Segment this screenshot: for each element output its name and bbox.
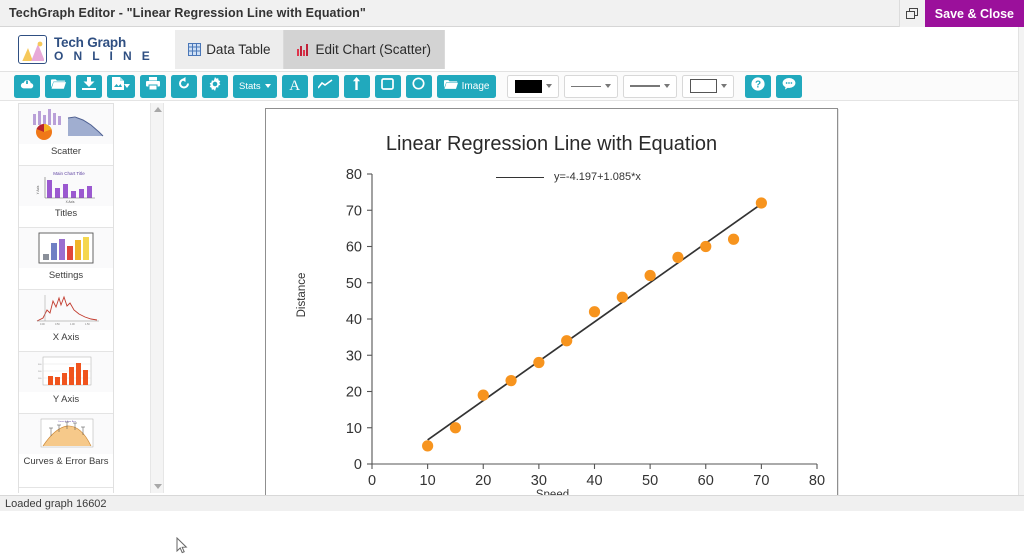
sidebar-item-scatter-label: Scatter — [19, 144, 113, 157]
main-tabs: Data Table Edit Chart (Scatter) — [175, 30, 445, 69]
window-title-bar: TechGraph Editor - "Linear Regression Li… — [0, 0, 1024, 27]
sidebar-item-y-axis[interactable]: 300200100 Y Axis — [19, 352, 113, 414]
bar-chart-icon — [297, 43, 310, 56]
chart-canvas[interactable]: Linear Regression Line with Equation y=-… — [265, 108, 838, 502]
shape-preview — [690, 79, 717, 93]
feedback-chat-icon — [782, 77, 796, 95]
shape-style-select[interactable] — [682, 75, 734, 98]
print-icon — [146, 77, 160, 95]
line-tool-button[interactable] — [313, 75, 339, 98]
sidebar-item-x-axis-label: X Axis — [19, 330, 113, 343]
svg-text:1.00: 1.00 — [70, 323, 75, 326]
line-style-select[interactable] — [564, 75, 618, 98]
svg-text:10: 10 — [346, 421, 362, 437]
arrow-tool-icon — [352, 77, 361, 95]
status-message: Loaded graph 16602 — [5, 498, 107, 510]
undo-icon — [177, 77, 191, 95]
upload-cloud-button[interactable] — [14, 75, 40, 98]
svg-text:50: 50 — [346, 276, 362, 292]
open-folder-icon — [51, 77, 66, 95]
mouse-cursor — [176, 537, 188, 554]
undo-button[interactable] — [171, 75, 197, 98]
svg-text:20: 20 — [346, 385, 362, 401]
app-logo: Tech Graph O N L I N E — [0, 35, 153, 64]
titles-thumbnail: Main Chart Title Y Axis X Axis — [19, 166, 113, 206]
chevron-down-icon — [721, 84, 727, 88]
svg-text:10: 10 — [420, 473, 436, 489]
export-image-button[interactable] — [107, 75, 135, 98]
line-width-select[interactable] — [623, 75, 677, 98]
logo-chart-icon — [18, 35, 47, 64]
feedback-chat-button[interactable] — [776, 75, 802, 98]
svg-text:X Axis: X Axis — [66, 200, 75, 204]
settings-gear-button[interactable] — [202, 75, 228, 98]
logo-text-line1: Tech Graph — [54, 36, 153, 50]
sidebar-scrollbar[interactable] — [150, 103, 164, 493]
logo-text-line2: O N L I N E — [54, 50, 153, 62]
tab-data-table-label: Data Table — [206, 42, 270, 57]
svg-text:Y Axis: Y Axis — [36, 185, 40, 194]
svg-text:0: 0 — [354, 457, 362, 473]
table-icon — [188, 43, 201, 56]
upload-cloud-icon — [20, 77, 34, 95]
svg-text:60: 60 — [346, 240, 362, 256]
print-button[interactable] — [140, 75, 166, 98]
sidebar-item-titles[interactable]: Main Chart Title Y Axis X Axis Titles — [19, 166, 113, 228]
sidebar-item-x-axis[interactable]: 0.000.50 1.001.50 X Axis — [19, 290, 113, 352]
help-button[interactable]: ? — [745, 75, 771, 98]
insert-image-button[interactable]: Image — [437, 75, 497, 98]
tab-edit-chart-label: Edit Chart (Scatter) — [315, 42, 431, 57]
svg-text:0.50: 0.50 — [55, 323, 60, 326]
sidebar-item-y-axis-label: Y Axis — [19, 392, 113, 405]
open-folder-button[interactable] — [45, 75, 71, 98]
svg-text:40: 40 — [346, 312, 362, 328]
sidebar-item-curves-error-bars[interactable]: Curves & Error Bars Curves & Error Bars — [19, 414, 113, 488]
rectangle-tool-icon — [381, 77, 394, 95]
stats-menu-button[interactable]: Stats — [233, 75, 277, 98]
svg-text:0: 0 — [368, 473, 376, 489]
ellipse-tool-icon — [412, 77, 425, 95]
insert-image-icon — [444, 79, 458, 93]
help-icon: ? — [751, 77, 765, 96]
svg-text:40: 40 — [586, 473, 602, 489]
settings-thumbnail — [19, 228, 113, 268]
export-image-icon — [112, 77, 124, 95]
arrow-tool-button[interactable] — [344, 75, 370, 98]
status-bar: Loaded graph 16602 — [0, 495, 1024, 511]
sidebar-item-settings-label: Settings — [19, 268, 113, 281]
right-edge-filler — [1018, 27, 1024, 495]
insert-image-label: Image — [462, 81, 490, 92]
svg-text:30: 30 — [531, 473, 547, 489]
window-title: TechGraph Editor - "Linear Regression Li… — [0, 6, 366, 20]
scroll-up-arrow-icon[interactable] — [151, 103, 165, 116]
settings-gear-icon — [208, 77, 222, 96]
line-tool-icon — [318, 77, 333, 95]
svg-text:70: 70 — [346, 203, 362, 219]
save-and-close-button[interactable]: Save & Close — [925, 0, 1024, 27]
svg-text:50: 50 — [642, 473, 658, 489]
svg-text:80: 80 — [346, 167, 362, 183]
curves-error-bars-thumbnail: Curves & Error Bars — [19, 414, 113, 454]
chart-type-sidebar: Scatter Main Chart Title Y Axis X Axis — [18, 103, 114, 493]
svg-text:60: 60 — [698, 473, 714, 489]
x-axis-thumbnail: 0.000.50 1.001.50 — [19, 290, 113, 330]
ellipse-tool-button[interactable] — [406, 75, 432, 98]
scroll-down-arrow-icon[interactable] — [151, 480, 165, 493]
svg-text:20: 20 — [475, 473, 491, 489]
editor-workspace: Scatter Main Chart Title Y Axis X Axis — [0, 101, 1024, 495]
text-tool-button[interactable]: A — [282, 75, 308, 98]
fill-color-select[interactable] — [507, 75, 559, 98]
app-header: Tech Graph O N L I N E Data Table — [0, 27, 1024, 72]
sidebar-item-titles-label: Titles — [19, 206, 113, 219]
svg-text:70: 70 — [753, 473, 769, 489]
chevron-down-icon — [124, 84, 130, 88]
svg-text:0.00: 0.00 — [40, 323, 45, 326]
sidebar-item-scatter[interactable]: Scatter — [19, 104, 113, 166]
tab-edit-chart[interactable]: Edit Chart (Scatter) — [284, 30, 445, 69]
chevron-down-icon — [664, 84, 670, 88]
chevron-down-icon — [546, 84, 552, 88]
sidebar-item-settings[interactable]: Settings — [19, 228, 113, 290]
download-icon — [82, 77, 96, 95]
restore-window-button[interactable] — [899, 0, 925, 27]
chevron-down-icon — [605, 84, 611, 88]
y-axis-thumbnail: 300200100 — [19, 352, 113, 392]
download-button[interactable] — [76, 75, 102, 98]
editor-toolbar: Stats A Image — [0, 72, 1024, 101]
sidebar-item-curves-error-bars-label: Curves & Error Bars — [19, 454, 113, 467]
svg-text:Curves & Error Bars: Curves & Error Bars — [58, 421, 76, 423]
y-axis-title[interactable]: Distance — [296, 250, 308, 340]
color-swatch — [515, 80, 542, 93]
stats-menu-label: Stats — [239, 81, 261, 92]
window-controls: Save & Close — [899, 0, 1024, 27]
svg-text:30: 30 — [346, 348, 362, 364]
text-tool-icon: A — [289, 79, 300, 94]
svg-text:1.50: 1.50 — [85, 323, 90, 326]
line-preview — [571, 86, 601, 87]
restore-window-icon — [906, 8, 919, 20]
chevron-down-icon — [265, 84, 271, 88]
scatter-thumbnail — [19, 104, 113, 144]
chart-plot-area[interactable]: 0102030405060708001020304050607080 — [266, 109, 838, 502]
svg-text:?: ? — [755, 79, 761, 90]
svg-text:80: 80 — [809, 473, 825, 489]
line-preview — [630, 85, 660, 87]
svg-text:Main Chart Title: Main Chart Title — [53, 171, 85, 176]
rectangle-tool-button[interactable] — [375, 75, 401, 98]
tab-data-table[interactable]: Data Table — [175, 30, 284, 69]
